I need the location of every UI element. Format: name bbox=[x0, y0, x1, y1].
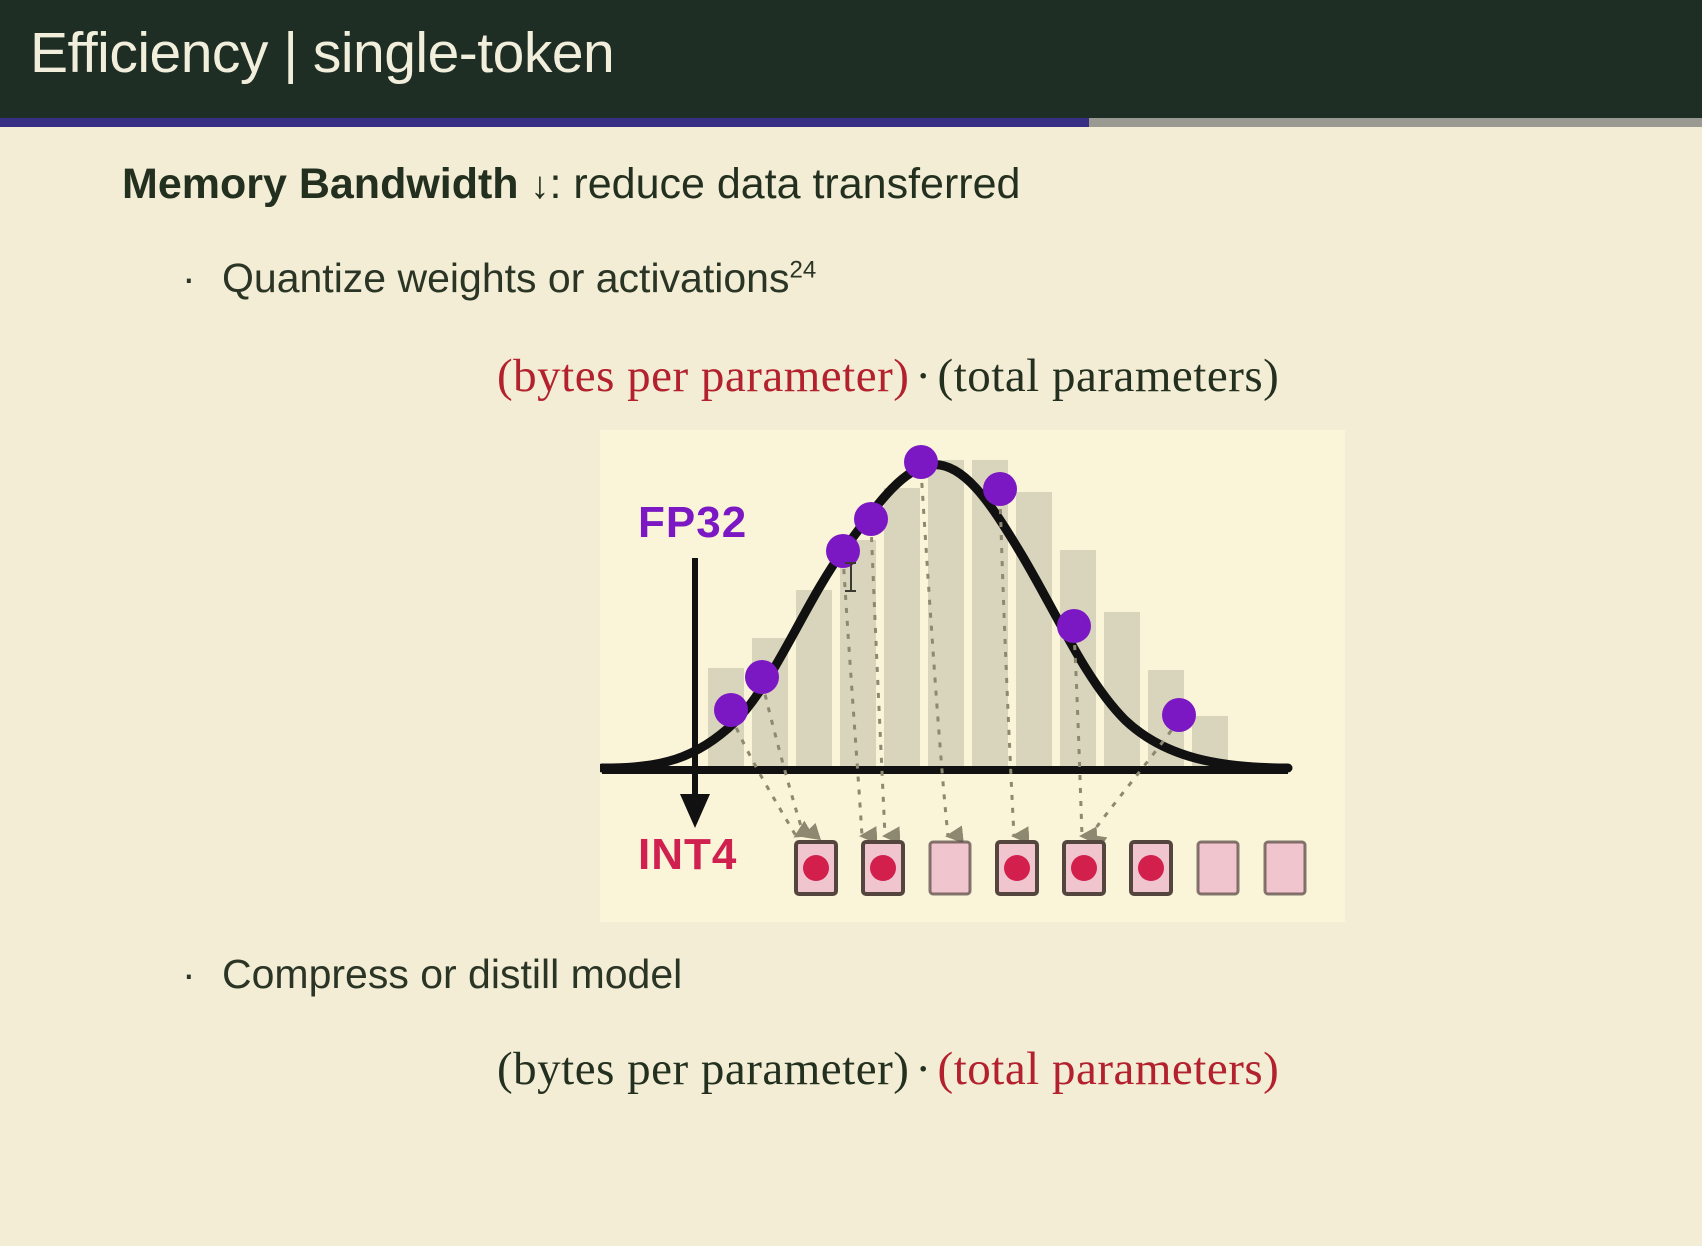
int4-cell-value-dot bbox=[1138, 855, 1164, 881]
bullet-marker-icon: · bbox=[182, 951, 222, 998]
fp32-label: FP32 bbox=[638, 498, 747, 548]
int4-cell bbox=[1265, 842, 1305, 894]
formula-bottom-right: (total parameters) bbox=[938, 1043, 1280, 1095]
formula-top-separator: · bbox=[909, 350, 937, 402]
text-cursor-icon bbox=[845, 562, 856, 592]
formula-top-right: (total parameters) bbox=[938, 350, 1280, 402]
list-item-label: Quantize weights or activations bbox=[222, 255, 789, 301]
int4-cell-value-dot bbox=[803, 855, 829, 881]
text-cursor-cap-bottom bbox=[845, 590, 856, 592]
lead-statement: Memory Bandwidth ↓: reduce data transfer… bbox=[122, 160, 1020, 209]
formula-top-left: (bytes per parameter) bbox=[497, 350, 909, 402]
page-title: Efficiency | single-token bbox=[30, 20, 614, 86]
bullet-marker-icon: · bbox=[182, 255, 222, 302]
lead-strong: Memory Bandwidth bbox=[122, 160, 519, 208]
slide-body: Memory Bandwidth ↓: reduce data transfer… bbox=[0, 127, 1702, 1246]
text-cursor-bar bbox=[850, 564, 852, 590]
int4-label: INT4 bbox=[638, 830, 737, 880]
formula-bottom-separator: · bbox=[909, 1043, 937, 1095]
formula-top: (bytes per parameter)·(total parameters) bbox=[497, 349, 1279, 403]
footnote-ref: 24 bbox=[789, 256, 816, 283]
list-item: ·Quantize weights or activations24 bbox=[182, 255, 816, 302]
int4-cell bbox=[930, 842, 970, 894]
slide-header: Efficiency | single-token bbox=[0, 0, 1702, 118]
int4-cell-value-dot bbox=[870, 855, 896, 881]
quantization-diagram: FP32 INT4 bbox=[600, 430, 1345, 922]
int4-cell-value-dot bbox=[1071, 855, 1097, 881]
arrow-down-icon: ↓ bbox=[531, 165, 550, 207]
int4-cell-value-dot bbox=[1004, 855, 1030, 881]
lead-rest: : reduce data transferred bbox=[550, 160, 1021, 208]
list-item: ·Compress or distill model bbox=[182, 951, 682, 998]
progress-track[interactable] bbox=[0, 118, 1702, 127]
bin-bands bbox=[701, 460, 1228, 772]
formula-bottom: (bytes per parameter)·(total parameters) bbox=[497, 1042, 1279, 1096]
progress-fill bbox=[0, 118, 1089, 127]
fp32-arrow-head bbox=[680, 794, 710, 828]
list-item-label: Compress or distill model bbox=[222, 951, 682, 997]
int4-cell-row bbox=[796, 842, 1305, 894]
int4-cell bbox=[1198, 842, 1238, 894]
formula-bottom-left: (bytes per parameter) bbox=[497, 1043, 909, 1095]
